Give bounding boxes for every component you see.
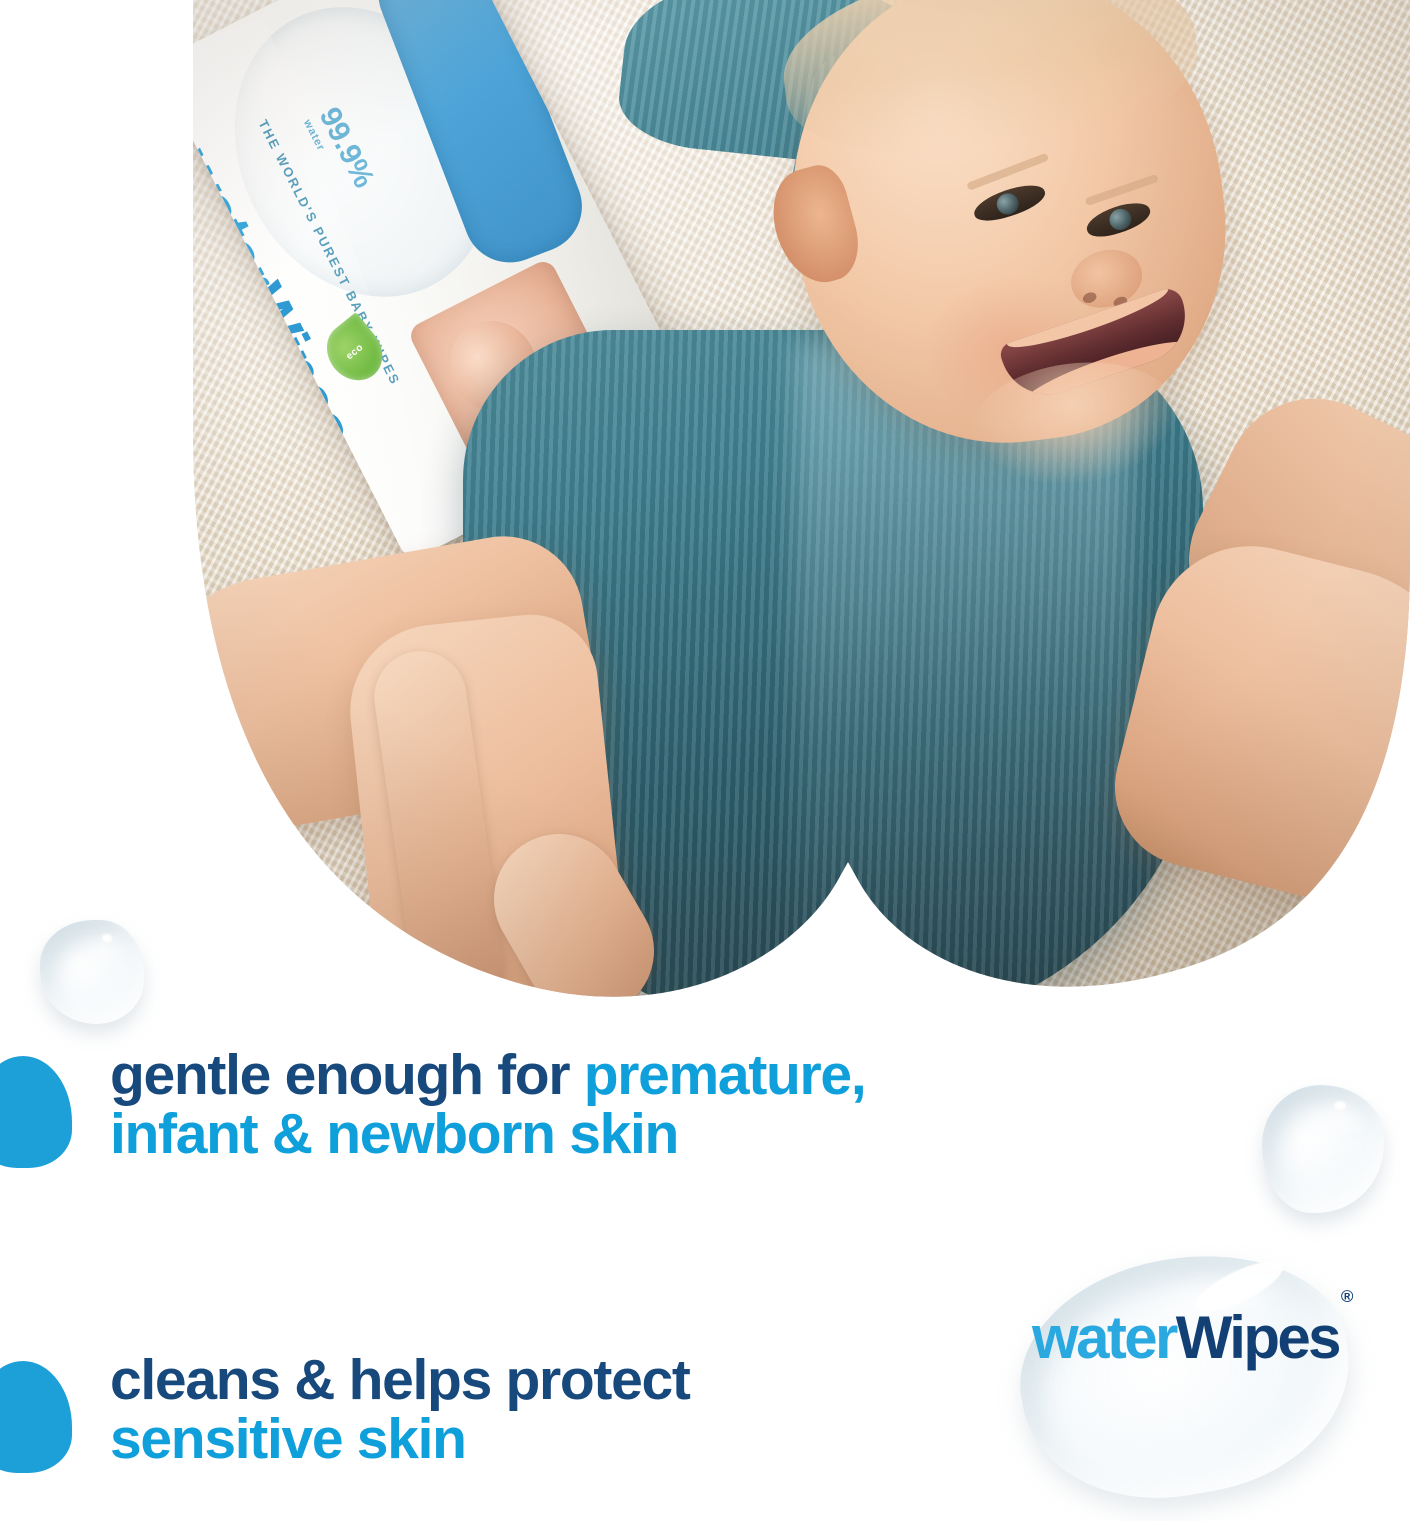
water-droplet-medium — [1262, 1085, 1384, 1213]
smiling-baby-photo: waterWipes THE WORLD'S PUREST BABY WIPES… — [193, 0, 1410, 1010]
water-droplet-small — [40, 920, 144, 1024]
baby-hair — [773, 0, 1206, 172]
bullet-1-line1-highlight: premature, — [584, 1043, 866, 1107]
hero-photo-droplet-mask: waterWipes THE WORLD'S PUREST BABY WIPES… — [193, 0, 1410, 1010]
bullet-1-text: gentle enough for premature, infant & ne… — [110, 1046, 1000, 1163]
bullet-1-line2: infant & newborn skin — [110, 1105, 1000, 1164]
list-item: gentle enough for premature, infant & ne… — [0, 1046, 1000, 1163]
water-droplet-bullet-icon — [0, 1056, 72, 1168]
water-droplet-bullet-icon — [0, 1361, 72, 1473]
droplet-bead — [1262, 1085, 1384, 1213]
logo-text-wipes: Wipes — [1176, 1304, 1339, 1371]
water-droplet-logo-backdrop — [1002, 1231, 1368, 1521]
bullet-1-line1-dark: gentle enough for — [110, 1043, 584, 1107]
waterwipes-logo: waterWipes® — [1032, 1308, 1362, 1368]
bullet-2-text: cleans & helps protect sensitive skin — [110, 1351, 1000, 1468]
registered-trademark-icon: ® — [1341, 1287, 1354, 1306]
list-item: cleans & helps protect sensitive skin — [0, 1351, 1000, 1468]
bullet-2-line2: sensitive skin — [110, 1410, 1000, 1469]
logo-text-water: water — [1032, 1304, 1176, 1371]
baby-eyebrow-right — [1085, 174, 1159, 206]
bullet-2-line1-dark: cleans & helps protect — [110, 1348, 690, 1412]
droplet-bead — [40, 920, 144, 1024]
benefits-list: gentle enough for premature, infant & ne… — [0, 1046, 1000, 1469]
droplet-specular-highlight — [1334, 1101, 1346, 1110]
droplet-specular-highlight — [102, 934, 112, 942]
